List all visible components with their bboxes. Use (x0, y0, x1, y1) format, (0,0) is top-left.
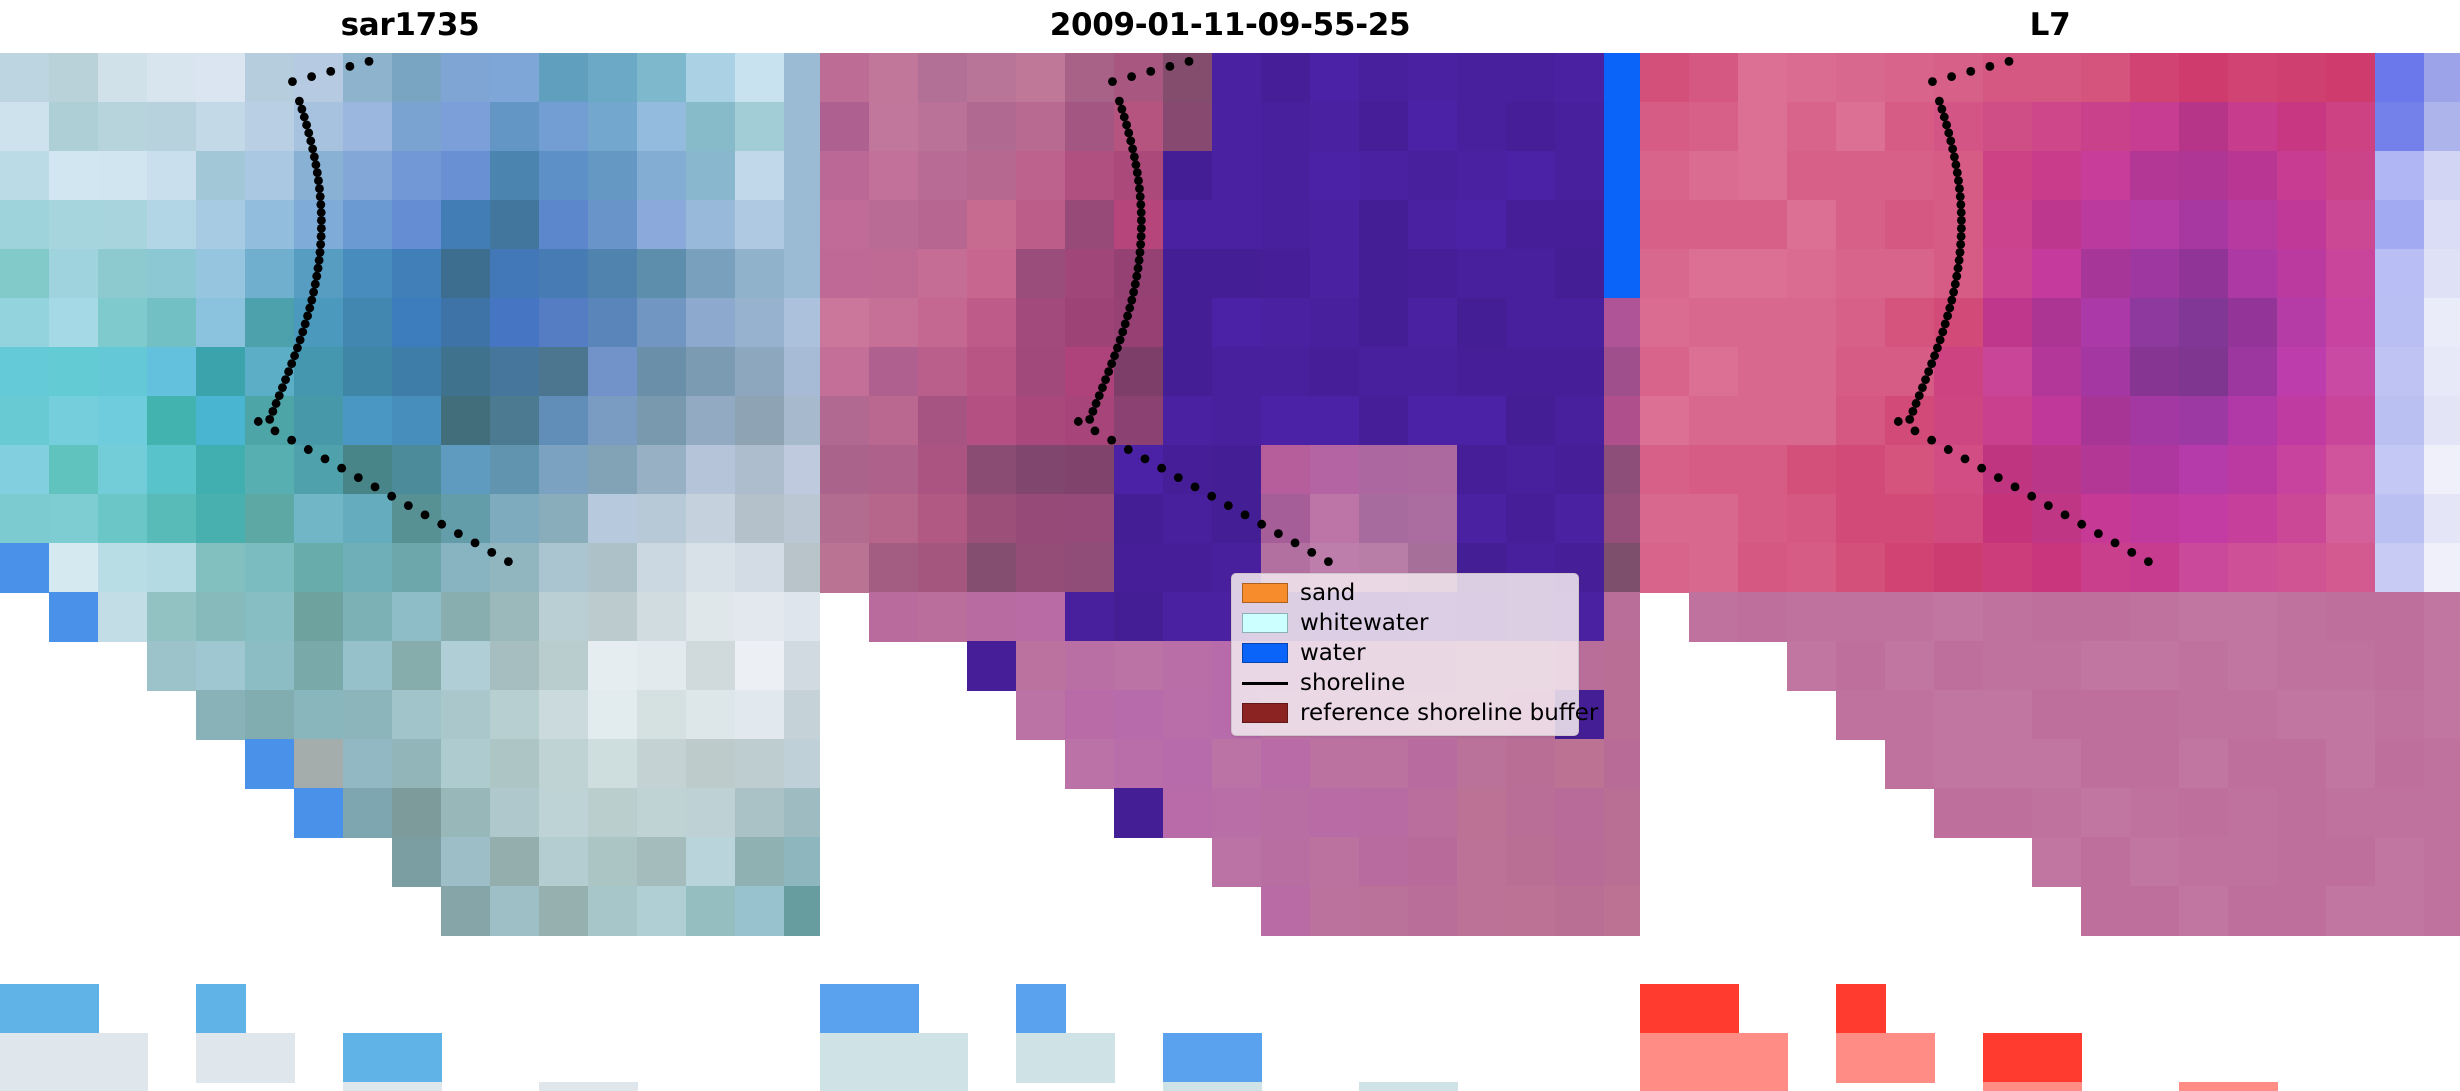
legend-label-reference-buffer: reference shoreline buffer (1300, 700, 1598, 726)
sar-raster-image (0, 53, 820, 1091)
legend-label-shoreline: shoreline (1300, 670, 1405, 696)
reference-buffer-swatch-icon (1242, 703, 1288, 723)
legend-item-sand: sand (1242, 580, 1355, 606)
l7-raster-image (1640, 53, 2460, 1091)
panel-classified: 2009-01-11-09-55-25 (820, 0, 1640, 1091)
water-swatch-icon (1242, 643, 1288, 663)
axes-l7 (1640, 53, 2460, 1091)
shoreline-line-icon (1242, 682, 1288, 685)
legend-box: sand whitewater water shoreline referenc… (1231, 573, 1579, 736)
panel-title-classified: 2009-01-11-09-55-25 (820, 2, 1640, 48)
sand-swatch-icon (1242, 583, 1288, 603)
classification-raster-image (820, 53, 1640, 1091)
figure-canvas: sar1735 2009-01-11-09-55-25 L7 sand whit… (0, 0, 2460, 1091)
whitewater-swatch-icon (1242, 613, 1288, 633)
legend-label-whitewater: whitewater (1300, 610, 1428, 636)
axes-classified (820, 53, 1640, 1091)
legend-item-water: water (1242, 640, 1366, 666)
panel-title-sar: sar1735 (0, 2, 820, 48)
panel-sar: sar1735 (0, 0, 820, 1091)
legend-label-water: water (1300, 640, 1366, 666)
legend-label-sand: sand (1300, 580, 1355, 606)
legend-item-whitewater: whitewater (1242, 610, 1428, 636)
legend-item-reference-buffer: reference shoreline buffer (1242, 700, 1598, 726)
legend-item-shoreline: shoreline (1242, 670, 1405, 696)
panel-title-l7: L7 (1640, 2, 2460, 48)
panel-l7: L7 (1640, 0, 2460, 1091)
axes-sar (0, 53, 820, 1091)
